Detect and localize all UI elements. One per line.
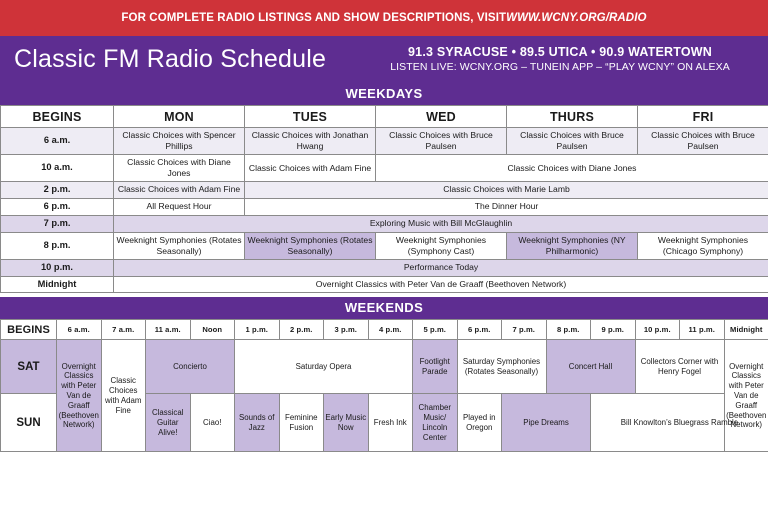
weekdays-day-header-mon: MON — [114, 106, 245, 128]
weekends-program-cell[interactable]: Early Music Now — [324, 394, 369, 452]
radio-schedule-page: FOR COMPLETE RADIO LISTINGS AND SHOW DES… — [0, 0, 768, 512]
weekdays-row: 2 p.m.Classic Choices with Adam FineClas… — [1, 182, 768, 199]
weekends-time-header: 3 p.m. — [324, 320, 369, 340]
weekends-program-cell[interactable]: Concert Hall — [546, 340, 635, 394]
weekends-time-header: 10 p.m. — [635, 320, 680, 340]
weekends-table: BEGINS6 a.m.7 a.m.11 a.m.Noon1 p.m.2 p.m… — [0, 319, 768, 452]
weekdays-program-cell[interactable]: Classic Choices with Bruce Paulsen — [507, 128, 638, 155]
weekdays-program-cell[interactable]: All Request Hour — [114, 198, 245, 215]
weekends-body: SATOvernight Classics with Peter Van de … — [1, 340, 768, 452]
weekdays-row: 6 a.m.Classic Choices with Spencer Phill… — [1, 128, 768, 155]
weekends-time-header: 5 p.m. — [413, 320, 458, 340]
weekdays-program-cell[interactable]: Classic Choices with Jonathan Hwang — [245, 128, 376, 155]
weekends-time-header: 11 a.m. — [146, 320, 191, 340]
weekends-program-cell[interactable]: Ciao! — [190, 394, 235, 452]
page-title: Classic FM Radio Schedule — [14, 45, 326, 74]
weekdays-time-cell: 7 p.m. — [1, 215, 114, 232]
weekdays-program-cell[interactable]: Classic Choices with Diane Jones — [114, 155, 245, 182]
weekdays-row: 10 p.m.Performance Today — [1, 259, 768, 276]
weekends-section-bar: WEEKENDS — [0, 297, 768, 319]
weekdays-begins-header: BEGINS — [1, 106, 114, 128]
weekends-time-header: 8 p.m. — [546, 320, 591, 340]
weekends-program-cell[interactable]: Chamber Music/ Lincoln Center — [413, 394, 458, 452]
weekends-program-cell[interactable]: Fresh Ink — [368, 394, 413, 452]
weekends-program-cell[interactable]: Played in Oregon — [457, 394, 502, 452]
weekends-time-header: 2 p.m. — [279, 320, 324, 340]
weekdays-row: 10 a.m.Classic Choices with Diane JonesC… — [1, 155, 768, 182]
weekdays-time-cell: Midnight — [1, 276, 114, 293]
weekdays-day-header-wed: WED — [376, 106, 507, 128]
weekends-time-header: 7 p.m. — [502, 320, 547, 340]
weekends-time-header: 6 a.m. — [57, 320, 102, 340]
weekends-time-header: 6 p.m. — [457, 320, 502, 340]
weekends-day-label: SUN — [1, 394, 57, 452]
weekdays-program-cell[interactable]: Weeknight Symphonies (Symphony Cast) — [376, 232, 507, 259]
weekends-begins-header: BEGINS — [1, 320, 57, 340]
weekends-program-cell[interactable]: Saturday Opera — [235, 340, 413, 394]
weekends-program-cell[interactable]: Classic Choices with Adam Fine — [101, 340, 146, 452]
weekends-header-row: BEGINS6 a.m.7 a.m.11 a.m.Noon1 p.m.2 p.m… — [1, 320, 768, 340]
weekends-program-cell[interactable]: Classical Guitar Alive! — [146, 394, 191, 452]
weekdays-body: 6 a.m.Classic Choices with Spencer Phill… — [1, 128, 768, 293]
weekdays-program-cell[interactable]: Classic Choices with Bruce Paulsen — [638, 128, 768, 155]
weekends-program-cell[interactable]: Concierto — [146, 340, 235, 394]
weekdays-program-cell[interactable]: Weeknight Symphonies (Chicago Symphony) — [638, 232, 768, 259]
frequencies-line: 91.3 SYRACUSE • 89.5 UTICA • 90.9 WATERT… — [366, 45, 754, 61]
weekends-time-header: Noon — [190, 320, 235, 340]
weekdays-program-cell[interactable]: Weeknight Symphonies (Rotates Seasonally… — [114, 232, 245, 259]
weekdays-header-row: BEGINSMONTUESWEDTHURSFRI — [1, 106, 768, 128]
weekdays-program-cell[interactable]: Weeknight Symphonies (Rotates Seasonally… — [245, 232, 376, 259]
weekdays-day-header-fri: FRI — [638, 106, 768, 128]
listen-live-line: LISTEN LIVE: WCNY.ORG – TUNEIN APP – “PL… — [366, 61, 754, 74]
weekdays-row: 8 p.m.Weeknight Symphonies (Rotates Seas… — [1, 232, 768, 259]
bottom-padding — [0, 452, 768, 457]
weekdays-section-bar: WEEKDAYS — [0, 83, 768, 105]
weekdays-time-cell: 10 p.m. — [1, 259, 114, 276]
weekdays-program-cell[interactable]: The Dinner Hour — [245, 198, 768, 215]
weekends-program-cell[interactable]: Feminine Fusion — [279, 394, 324, 452]
weekdays-time-cell: 6 a.m. — [1, 128, 114, 155]
weekends-time-header: 9 p.m. — [591, 320, 636, 340]
weekends-program-cell[interactable]: Pipe Dreams — [502, 394, 591, 452]
weekdays-table: BEGINSMONTUESWEDTHURSFRI 6 a.m.Classic C… — [0, 105, 768, 293]
weekdays-program-cell[interactable]: Classic Choices with Adam Fine — [114, 182, 245, 199]
weekends-time-header: 1 p.m. — [235, 320, 280, 340]
weekends-program-cell[interactable]: Saturday Symphonies (Rotates Seasonally) — [457, 340, 546, 394]
weekdays-time-cell: 2 p.m. — [1, 182, 114, 199]
weekends-time-header: Midnight — [724, 320, 768, 340]
weekends-program-cell[interactable]: Collectors Corner with Henry Fogel — [635, 340, 724, 394]
weekends-time-header: 11 p.m. — [680, 320, 725, 340]
weekdays-program-cell[interactable]: Overnight Classics with Peter Van de Gra… — [114, 276, 768, 293]
weekends-time-header: 4 p.m. — [368, 320, 413, 340]
weekends-time-header: 7 a.m. — [101, 320, 146, 340]
weekdays-time-cell: 6 p.m. — [1, 198, 114, 215]
weekdays-program-cell[interactable]: Weeknight Symphonies (NY Philharmonic) — [507, 232, 638, 259]
header-band: Classic FM Radio Schedule 91.3 SYRACUSE … — [0, 36, 768, 83]
weekends-program-cell[interactable]: Sounds of Jazz — [235, 394, 280, 452]
weekdays-time-cell: 8 p.m. — [1, 232, 114, 259]
listings-banner: FOR COMPLETE RADIO LISTINGS AND SHOW DES… — [0, 0, 768, 36]
weekdays-program-cell[interactable]: Classic Choices with Marie Lamb — [245, 182, 768, 199]
weekends-program-cell[interactable]: Overnight Classics with Peter Van de Gra… — [57, 340, 102, 452]
weekdays-program-cell[interactable]: Classic Choices with Bruce Paulsen — [376, 128, 507, 155]
weekdays-row: 6 p.m.All Request HourThe Dinner Hour — [1, 198, 768, 215]
weekdays-program-cell[interactable]: Classic Choices with Spencer Phillips — [114, 128, 245, 155]
weekdays-program-cell[interactable]: Exploring Music with Bill McGlaughlin — [114, 215, 768, 232]
weekdays-program-cell[interactable]: Classic Choices with Diane Jones — [376, 155, 768, 182]
weekdays-program-cell[interactable]: Classic Choices with Adam Fine — [245, 155, 376, 182]
weekdays-row: MidnightOvernight Classics with Peter Va… — [1, 276, 768, 293]
weekdays-row: 7 p.m.Exploring Music with Bill McGlaugh… — [1, 215, 768, 232]
weekdays-time-cell: 10 a.m. — [1, 155, 114, 182]
banner-url[interactable]: WWW.WCNY.ORG/RADIO — [506, 12, 646, 24]
weekends-row-sat: SATOvernight Classics with Peter Van de … — [1, 340, 768, 394]
station-info: 91.3 SYRACUSE • 89.5 UTICA • 90.9 WATERT… — [326, 45, 754, 74]
banner-text: FOR COMPLETE RADIO LISTINGS AND SHOW DES… — [121, 12, 506, 24]
weekdays-program-cell[interactable]: Performance Today — [114, 259, 768, 276]
weekends-program-cell[interactable]: Footlight Parade — [413, 340, 458, 394]
weekends-day-label: SAT — [1, 340, 57, 394]
weekdays-day-header-thurs: THURS — [507, 106, 638, 128]
weekdays-day-header-tues: TUES — [245, 106, 376, 128]
